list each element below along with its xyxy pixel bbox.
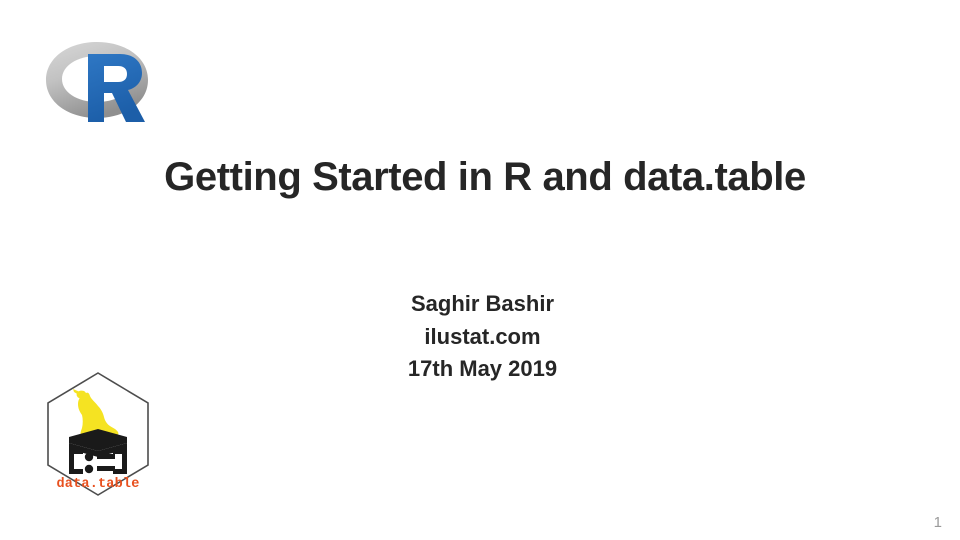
data-table-logo-graphic: data.table xyxy=(45,371,151,497)
data-table-hex-logo: data.table xyxy=(45,371,151,497)
r-logo xyxy=(44,38,150,126)
data-table-caption: data.table xyxy=(56,477,139,492)
slide-title: Getting Started in R and data.table xyxy=(60,154,910,200)
subtitle-line-date: 17th May 2019 xyxy=(160,353,805,386)
r-logo-graphic xyxy=(44,38,150,126)
subtitle-line-website: ilustat.com xyxy=(160,321,805,354)
subtitle-line-author: Saghir Bashir xyxy=(160,288,805,321)
slide-canvas: Getting Started in R and data.table Sagh… xyxy=(0,0,960,540)
slide-subtitle: Saghir Bashir ilustat.com 17th May 2019 xyxy=(160,288,805,386)
page-number: 1 xyxy=(934,514,942,531)
